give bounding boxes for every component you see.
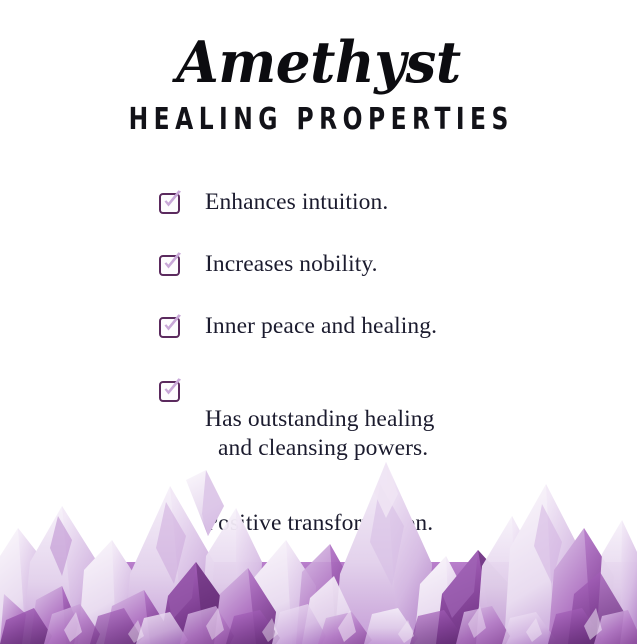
checked-checkbox-icon: [159, 381, 180, 402]
checked-checkbox-icon: [159, 255, 180, 276]
list-item-label-line1: Has outstanding healing: [205, 406, 434, 432]
page-subtitle: HEALING PROPERTIES: [70, 105, 567, 135]
list-item: Inner peace and healing.: [0, 312, 637, 341]
checkbox-cell: [0, 312, 205, 338]
checkbox-cell: [0, 376, 205, 402]
header: Amethyst HEALING PROPERTIES: [0, 0, 637, 135]
amethyst-crystal-cluster: [0, 444, 637, 644]
list-item-label: Enhances intuition.: [205, 188, 388, 217]
checked-checkbox-icon: [159, 193, 180, 214]
checkbox-cell: [0, 188, 205, 214]
amethyst-healing-properties-poster: Amethyst HEALING PROPERTIES Enhances int…: [0, 0, 637, 644]
checkbox-cell: [0, 250, 205, 276]
list-item: Enhances intuition.: [0, 188, 637, 217]
list-item-label: Inner peace and healing.: [205, 312, 437, 341]
list-item-label: Increases nobility.: [205, 250, 378, 279]
page-title: Amethyst: [13, 34, 625, 91]
checked-checkbox-icon: [159, 317, 180, 338]
list-item: Increases nobility.: [0, 250, 637, 279]
